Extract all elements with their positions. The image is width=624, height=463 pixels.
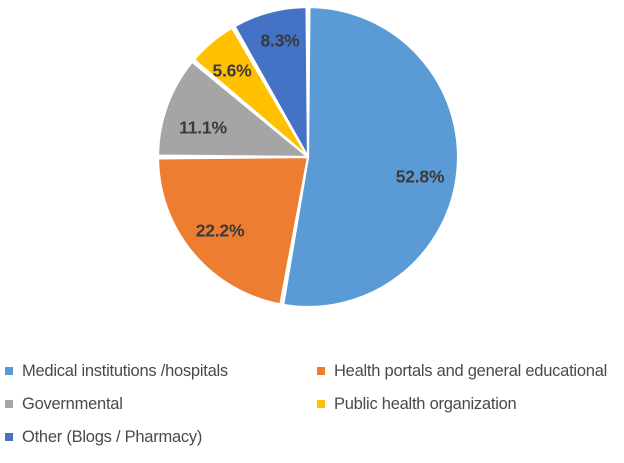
pie-slice-value-label: 11.1% (179, 118, 227, 138)
pie-svg: 52.8%22.2%11.1%5.6%8.3% (0, 0, 624, 338)
legend-item-label: Public health organization (334, 396, 516, 413)
legend-item-label: Health portals and general educational (334, 363, 607, 380)
legend-item-governmental[interactable]: Governmental (5, 388, 123, 420)
pie-slice-value-label: 8.3% (260, 31, 300, 51)
pie-plot-area: 52.8%22.2%11.1%5.6%8.3% (0, 0, 624, 338)
chart-legend: Medical institutions /hospitals Health p… (0, 355, 624, 463)
legend-item-label: Other (Blogs / Pharmacy) (22, 429, 202, 446)
legend-swatch-governmental (5, 400, 13, 408)
legend-row: Governmental Public health organization (0, 388, 624, 420)
legend-item-other-blogs-pharmacy[interactable]: Other (Blogs / Pharmacy) (5, 421, 202, 453)
legend-item-medical-institutions[interactable]: Medical institutions /hospitals (5, 355, 228, 387)
legend-swatch-other-blogs-pharmacy (5, 433, 13, 441)
pie-slices-group (158, 7, 458, 307)
pie-slice-value-label: 5.6% (212, 61, 252, 81)
pie-chart-figure: 52.8%22.2%11.1%5.6%8.3% Medical institut… (0, 0, 624, 463)
legend-row: Other (Blogs / Pharmacy) (0, 421, 624, 453)
legend-swatch-health-portals (317, 367, 325, 375)
legend-row: Medical institutions /hospitals Health p… (0, 355, 624, 387)
legend-item-health-portals[interactable]: Health portals and general educational (317, 355, 607, 387)
legend-swatch-public-health-organization (317, 400, 325, 408)
pie-slice-value-label: 52.8% (396, 167, 445, 187)
legend-item-public-health-organization[interactable]: Public health organization (317, 388, 516, 420)
pie-slice-value-label: 22.2% (196, 221, 245, 241)
pie-slice[interactable] (283, 7, 458, 307)
legend-item-label: Medical institutions /hospitals (22, 363, 228, 380)
legend-swatch-medical-institutions (5, 367, 13, 375)
legend-item-label: Governmental (22, 396, 123, 413)
